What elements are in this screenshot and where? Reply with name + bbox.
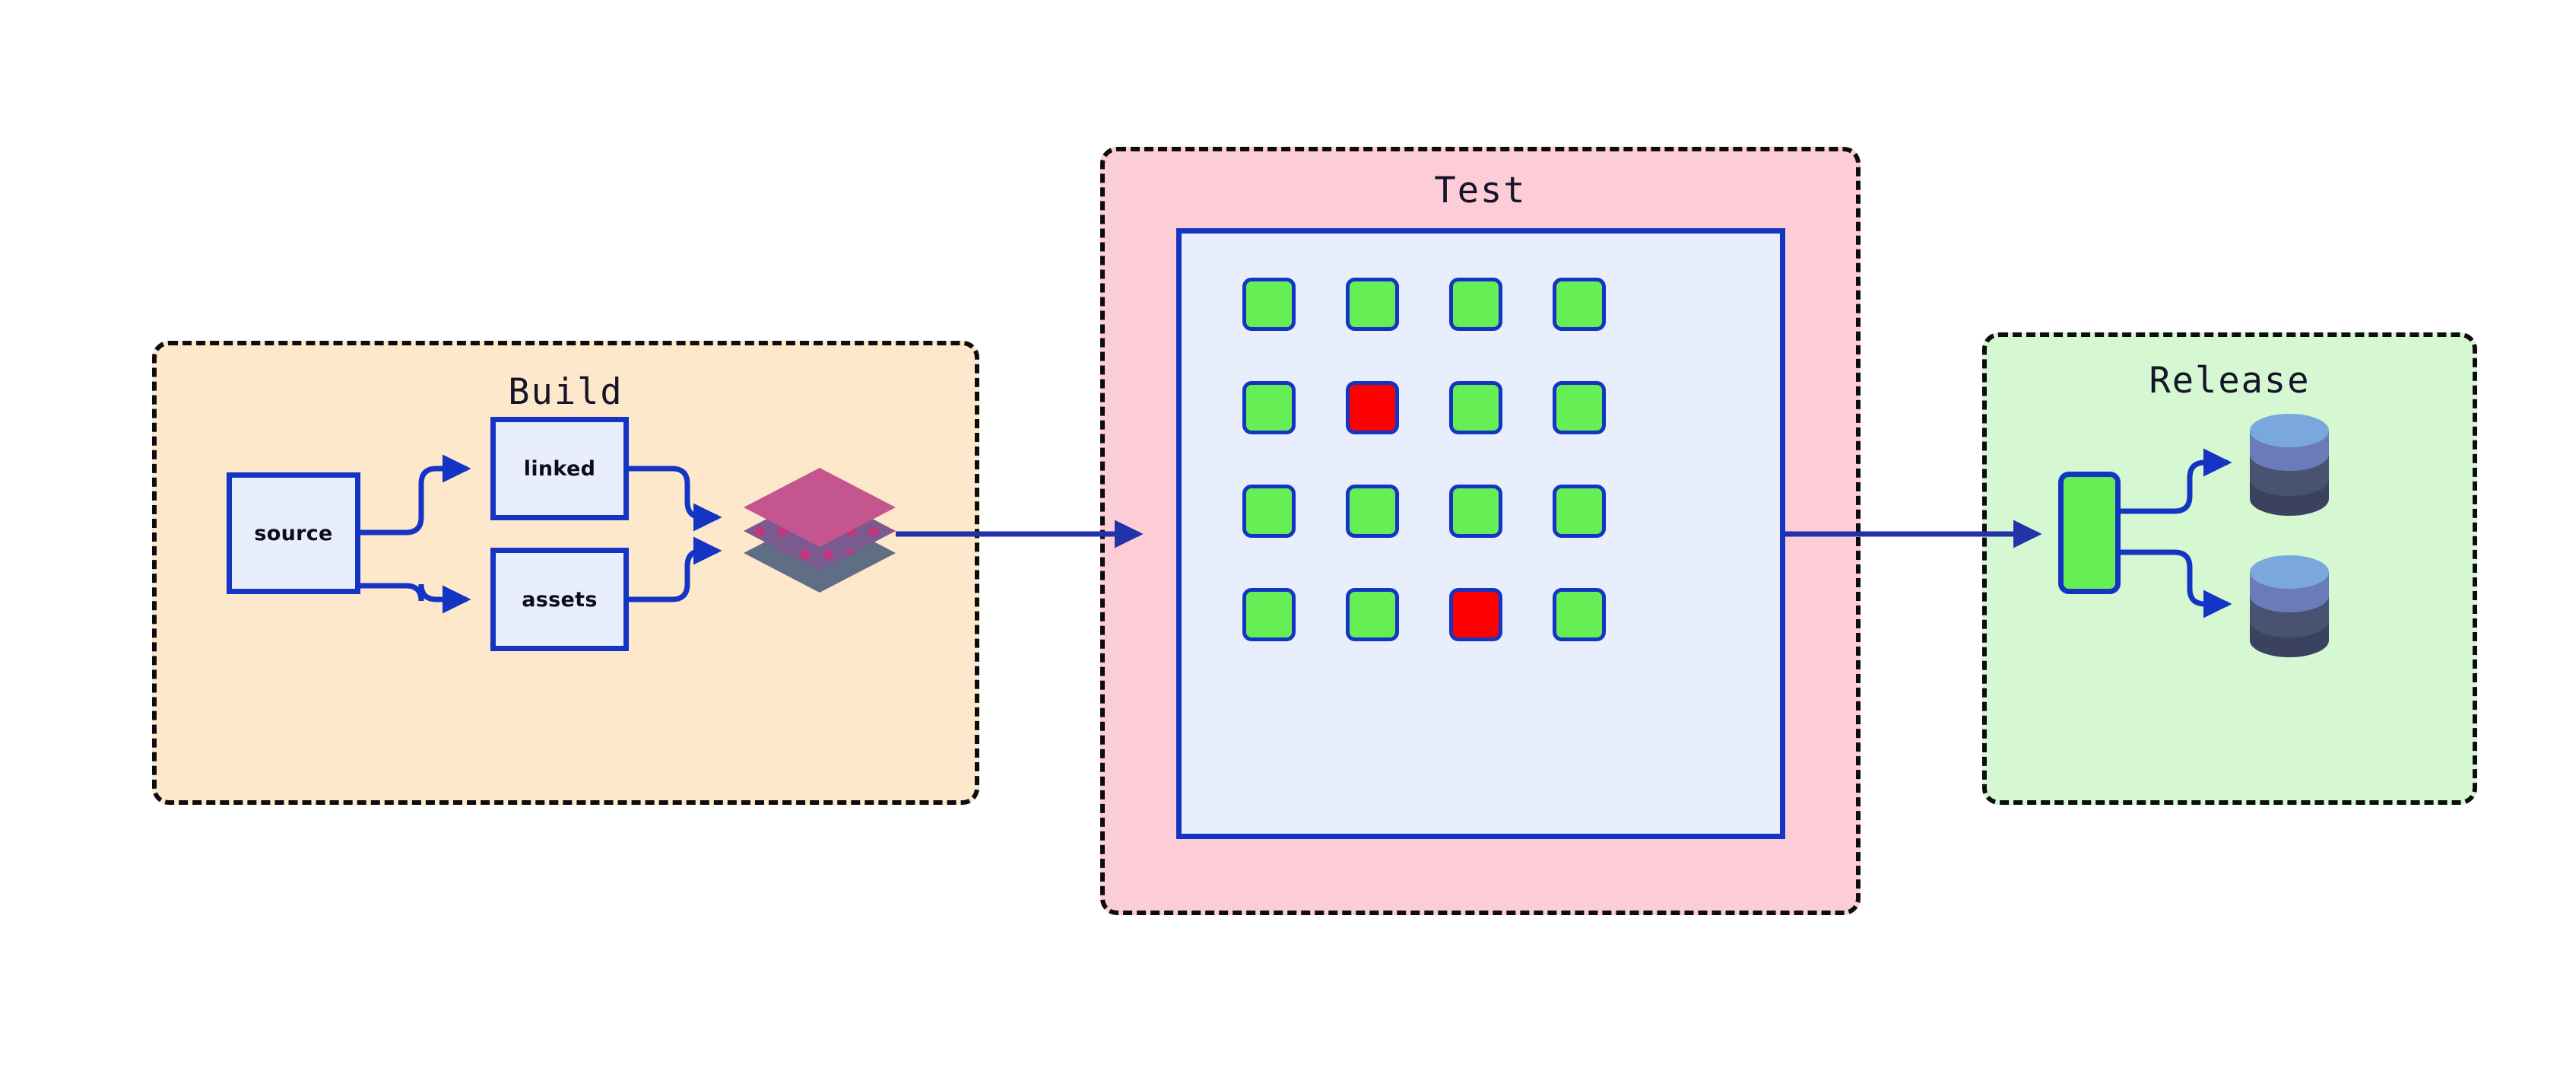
test-cell-pass[interactable] bbox=[1449, 485, 1502, 538]
test-cell-pass[interactable] bbox=[1449, 278, 1502, 331]
test-cell-pass[interactable] bbox=[1242, 485, 1296, 538]
build-box-linked-label: linked bbox=[524, 457, 595, 481]
test-results-panel bbox=[1176, 228, 1785, 839]
build-box-source-label: source bbox=[254, 522, 332, 545]
build-box-assets-label: assets bbox=[522, 588, 597, 612]
test-cell-fail[interactable] bbox=[1449, 588, 1502, 641]
stage-test-title: Test bbox=[1105, 170, 1856, 211]
build-box-source[interactable]: source bbox=[227, 472, 360, 594]
test-cell-pass[interactable] bbox=[1553, 278, 1606, 331]
stage-release[interactable]: Release bbox=[1982, 332, 2477, 805]
test-cell-pass[interactable] bbox=[1553, 485, 1606, 538]
stage-build-title: Build bbox=[157, 371, 975, 413]
test-cell-pass[interactable] bbox=[1449, 381, 1502, 434]
build-box-linked[interactable]: linked bbox=[490, 417, 629, 520]
test-cell-pass[interactable] bbox=[1346, 485, 1399, 538]
test-cell-pass[interactable] bbox=[1346, 588, 1399, 641]
test-results-grid bbox=[1242, 278, 1606, 641]
test-cell-fail[interactable] bbox=[1346, 381, 1399, 434]
test-cell-pass[interactable] bbox=[1242, 278, 1296, 331]
test-cell-pass[interactable] bbox=[1346, 278, 1399, 331]
stage-release-title: Release bbox=[1987, 360, 2473, 402]
build-box-assets[interactable]: assets bbox=[490, 548, 629, 651]
test-cell-pass[interactable] bbox=[1242, 381, 1296, 434]
diagram-canvas: Build source linked assets Test Release bbox=[0, 0, 2576, 1068]
release-deploy-unit[interactable] bbox=[2058, 472, 2121, 594]
test-cell-pass[interactable] bbox=[1553, 381, 1606, 434]
test-cell-pass[interactable] bbox=[1553, 588, 1606, 641]
test-cell-pass[interactable] bbox=[1242, 588, 1296, 641]
